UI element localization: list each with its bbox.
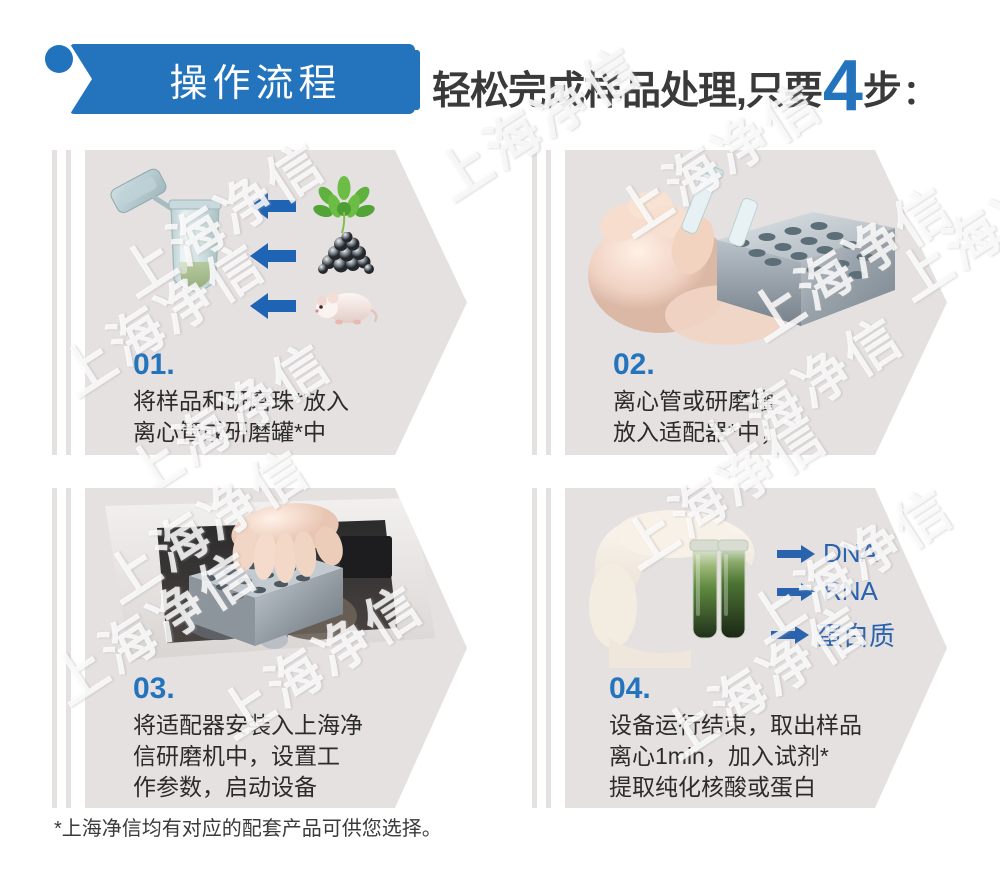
- section-banner: 操作流程: [70, 44, 415, 114]
- output-row-dna: DNA: [777, 538, 878, 569]
- arrow-left-icon-leaf: [250, 192, 294, 218]
- step-01-line-2: 离心管或研磨罐*中: [133, 417, 457, 448]
- step-02-text: 02. 离心管或研磨罐 放入适配器*中；: [613, 350, 937, 448]
- page-title-part2: 步: [863, 60, 901, 116]
- step-02-number: 02.: [613, 350, 937, 380]
- page-title-step-count: 4: [823, 58, 862, 116]
- card-accent-bar-inner: [66, 488, 71, 808]
- output-label-rna: RNA: [823, 576, 878, 607]
- arrow-right-icon-rna: [777, 583, 815, 601]
- step-04-line-3: 提取纯化核酸或蛋白: [609, 772, 937, 803]
- card-accent-bar-inner: [546, 488, 551, 808]
- arrow-right-icon-dna: [777, 545, 815, 563]
- card-surface: 01. 将样品和研磨珠*放入 离心管或研磨罐*中: [85, 150, 467, 455]
- hand-adapter-photo: [565, 150, 947, 350]
- step-card-02: 02. 离心管或研磨罐 放入适配器*中； 上海净信 上海净信 上海净信: [532, 150, 982, 455]
- card-accent-bar-outer: [532, 150, 537, 455]
- step-03-line-1: 将适配器安装入上海净: [133, 710, 457, 741]
- step-02-line-1: 离心管或研磨罐: [613, 386, 937, 417]
- card-accent-bar-inner: [546, 150, 551, 455]
- page-title-colon: ：: [903, 65, 936, 114]
- step-04-line-2: 离心1min，加入试剂*: [609, 741, 937, 772]
- arrow-left-icon-mouse: [250, 292, 294, 318]
- step-card-04: DNA RNA 蛋白质 04. 设备运行结束，取出样品: [532, 488, 982, 808]
- step-04-text: 04. 设备运行结束，取出样品 离心1min，加入试剂* 提取纯化核酸或蛋白: [609, 674, 937, 803]
- card-accent-bar-inner: [66, 150, 71, 455]
- output-row-protein: 蛋白质: [771, 616, 895, 653]
- card-accent-bar-outer: [532, 488, 537, 808]
- output-label-protein: 蛋白质: [817, 616, 895, 653]
- output-row-rna: RNA: [777, 576, 878, 607]
- card-surface: 02. 离心管或研磨罐 放入适配器*中；: [565, 150, 947, 455]
- step-03-illustration: [85, 488, 467, 673]
- grinding-beads-icon: [315, 232, 377, 278]
- header-accent-bar: [407, 50, 420, 110]
- step-card-03: 03. 将适配器安装入上海净 信研磨机中，设置工 作参数，启动设备 上海净信 上…: [52, 488, 502, 808]
- page-title: 轻松完成样品处理,只要 4 步 ：: [432, 52, 936, 112]
- mouse-icon: [313, 280, 379, 330]
- header-dot-icon: [45, 45, 73, 73]
- card-accent-bar-outer: [52, 150, 57, 455]
- infographic-page: 操作流程 轻松完成样品处理,只要 4 步 ：: [0, 0, 1000, 875]
- step-01-number: 01.: [133, 350, 457, 380]
- step-04-illustration: DNA RNA 蛋白质: [565, 488, 947, 673]
- leaf-icon: [313, 176, 375, 238]
- step-02-illustration: [565, 150, 947, 350]
- arrow-right-icon-protein: [771, 626, 809, 644]
- output-label-dna: DNA: [823, 538, 878, 569]
- footer-note: *上海净信均有对应的配套产品可供您选择。: [54, 812, 442, 841]
- card-surface: DNA RNA 蛋白质 04. 设备运行结束，取出样品: [565, 488, 947, 808]
- step-04-line-1: 设备运行结束，取出样品: [609, 710, 937, 741]
- step-01-line-1: 将样品和研磨珠*放入: [133, 386, 457, 417]
- step-03-text: 03. 将适配器安装入上海净 信研磨机中，设置工 作参数，启动设备: [133, 674, 457, 803]
- page-title-part1: 轻松完成样品处理,只要: [432, 60, 822, 116]
- step-03-line-3: 作参数，启动设备: [133, 772, 457, 803]
- section-banner-label: 操作流程: [70, 44, 415, 114]
- card-accent-bar-outer: [52, 488, 57, 808]
- step-01-illustration: [85, 150, 467, 350]
- card-surface: 03. 将适配器安装入上海净 信研磨机中，设置工 作参数，启动设备: [85, 488, 467, 808]
- grinder-install-photo: [85, 488, 467, 673]
- step-03-line-2: 信研磨机中，设置工: [133, 741, 457, 772]
- page-header: 操作流程 轻松完成样品处理,只要 4 步 ：: [0, 0, 1000, 130]
- arrow-left-icon-beads: [250, 242, 294, 268]
- step-card-01: 01. 将样品和研磨珠*放入 离心管或研磨罐*中 上海净信 上海净信 上海净信: [52, 150, 502, 455]
- step-02-line-2: 放入适配器*中；: [613, 417, 937, 448]
- step-04-number: 04.: [609, 674, 937, 704]
- step-01-text: 01. 将样品和研磨珠*放入 离心管或研磨罐*中: [133, 350, 457, 448]
- step-03-number: 03.: [133, 674, 457, 704]
